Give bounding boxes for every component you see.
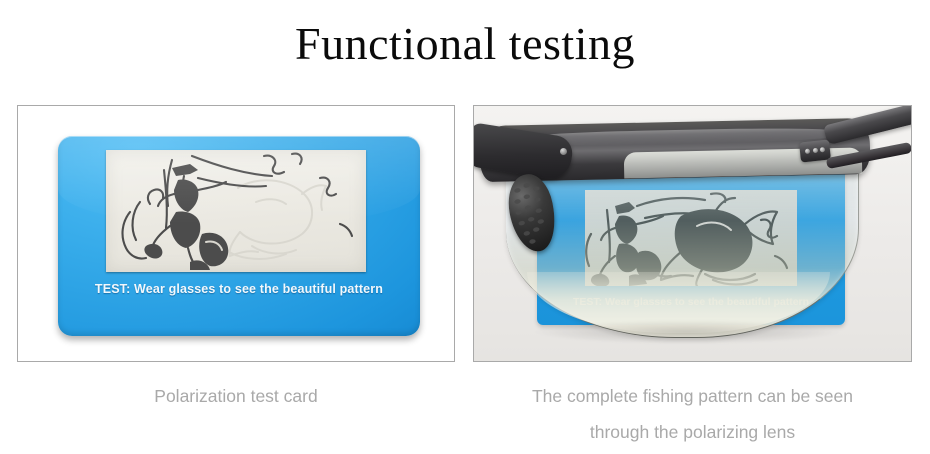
right-image-panel: TEST: Wear glasses to see the beautiful … [473,105,912,362]
page-title: Functional testing [0,16,930,72]
test-card-label: TEST: Wear glasses to see the beautiful … [58,282,420,296]
right-photo-stage: TEST: Wear glasses to see the beautiful … [474,106,911,361]
right-panel-caption-line-1: The complete fishing pattern can be seen [473,378,912,414]
right-panel-caption-line-2: through the polarizing lens [473,414,912,450]
frame-screw-icon [560,148,567,155]
left-image-panel: TEST: Wear glasses to see the beautiful … [17,105,455,362]
test-card-pattern-window [106,150,366,272]
left-panel-caption: Polarization test card [17,378,455,414]
glasses-drop-shadow [532,320,842,344]
fisherman-pattern-icon [106,150,366,272]
polarization-test-card: TEST: Wear glasses to see the beautiful … [58,136,420,336]
right-panel-caption: The complete fishing pattern can be seen… [473,378,912,450]
